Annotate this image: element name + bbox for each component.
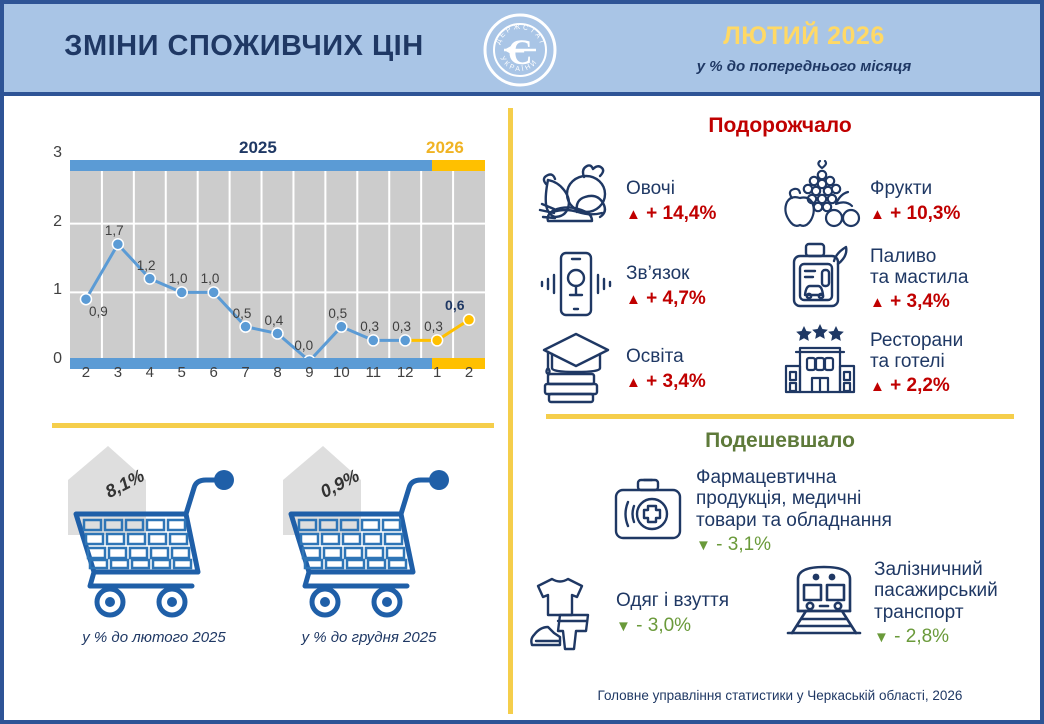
chart-y-tick: 0 — [42, 350, 62, 368]
chart-point-label: 0,0 — [294, 338, 313, 353]
increase-item-education: Освіта ▲ + 3,4% — [534, 328, 706, 411]
item-percent: + 3,4% — [646, 371, 706, 392]
chart-y-tick: 3 — [42, 144, 62, 162]
item-value: ▲ + 14,4% — [626, 203, 716, 225]
triangle-up-icon: ▲ — [626, 374, 641, 391]
cpi-line-chart: 2025 2026 0123 2345678910111212 0,91,71,… — [24, 108, 504, 408]
fuel-canister-icon — [778, 238, 862, 321]
increase-heading: Подорожчало — [520, 114, 1040, 138]
item-value: ▼ - 3,1% — [696, 534, 892, 556]
page-header: ЗМІНИ СПОЖИВЧИХ ЦІН ДЕРЖСТАТ УКРАЇНИ Є Л… — [4, 4, 1040, 96]
item-value: ▲ + 3,4% — [626, 371, 706, 393]
chart-x-tick: 1 — [424, 364, 450, 381]
chart-x-tick: 7 — [233, 364, 259, 381]
fruits-icon — [778, 160, 862, 243]
chart-point-label: 0,5 — [233, 306, 252, 321]
chart-x-tick: 2 — [73, 364, 99, 381]
chart-year-label-2026: 2026 — [426, 138, 464, 158]
chart-year-label-2025: 2025 — [239, 138, 277, 158]
chart-point-label: 1,2 — [137, 258, 156, 273]
header-month: ЛЮТИЙ 2026 — [594, 22, 1014, 51]
chart-x-tick: 11 — [360, 364, 386, 381]
decrease-heading: Подешевшало — [520, 429, 1040, 453]
chart-point-label: 0,6 — [445, 297, 464, 313]
decrease-item-pharma: Фармацевтична продукція, медичні товари … — [608, 467, 892, 556]
increase-items-grid: Овочі ▲ + 14,4% — [520, 150, 1040, 400]
infographic-page: ЗМІНИ СПОЖИВЧИХ ЦІН ДЕРЖСТАТ УКРАЇНИ Є Л… — [0, 0, 1044, 724]
triangle-down-icon: ▼ — [874, 629, 889, 646]
chart-x-tick: 3 — [105, 364, 131, 381]
increase-item-communication: Зв’язок ▲ + 4,7% — [534, 245, 706, 328]
chart-point-label: 0,3 — [424, 319, 443, 334]
shopping-cart-icon — [44, 444, 264, 624]
item-percent: + 2,2% — [890, 375, 950, 396]
shopping-cart-icon — [259, 444, 479, 624]
first-aid-kit-icon — [608, 470, 688, 553]
clothing-shoes-icon — [526, 571, 608, 656]
cart-caption: у % до лютого 2025 — [44, 629, 264, 646]
item-label: Паливо та мастила — [870, 246, 968, 289]
item-percent: + 14,4% — [646, 203, 716, 224]
item-value: ▲ + 4,7% — [626, 288, 706, 310]
item-percent: + 3,4% — [890, 291, 950, 312]
cart-block-yoy: 8,1% у % до лютого 2025 — [44, 444, 264, 629]
left-panel-divider — [52, 423, 494, 428]
chart-y-tick: 2 — [42, 213, 62, 231]
item-label: Овочі — [626, 178, 716, 199]
increase-item-fuel: Паливо та мастила ▲ + 3,4% — [778, 238, 968, 321]
chart-x-tick: 12 — [392, 364, 418, 381]
train-icon — [782, 559, 866, 648]
triangle-down-icon: ▼ — [696, 537, 711, 554]
item-label: Зв’язок — [626, 263, 706, 284]
footer-note: Головне управління статистики у Черкаськ… — [520, 688, 1040, 703]
chart-x-tick: 8 — [265, 364, 291, 381]
chart-point-label: 0,3 — [392, 319, 411, 334]
vertical-divider — [508, 108, 513, 714]
triangle-down-icon: ▼ — [616, 618, 631, 635]
triangle-up-icon: ▲ — [870, 378, 885, 395]
chart-x-tick: 2 — [456, 364, 482, 381]
chart-point-label: 0,5 — [328, 306, 347, 321]
cart-caption: у % до грудня 2025 — [259, 629, 479, 646]
seal-icon: ДЕРЖСТАТ УКРАЇНИ Є — [474, 10, 566, 90]
item-label: Одяг і взуття — [616, 590, 729, 611]
decrease-item-rail: Залізничний пасажирський транспорт ▼ - 2… — [782, 559, 998, 648]
chart-point-label: 0,4 — [265, 313, 284, 328]
triangle-up-icon: ▲ — [626, 291, 641, 308]
derzhstat-logo: ДЕРЖСТАТ УКРАЇНИ Є — [474, 10, 566, 90]
item-label: Освіта — [626, 346, 706, 367]
chart-y-tick: 1 — [42, 281, 62, 299]
item-value: ▲ + 2,2% — [870, 375, 963, 397]
triangle-up-icon: ▲ — [626, 206, 641, 223]
item-value: ▲ + 3,4% — [870, 291, 968, 313]
chart-svg — [70, 171, 485, 358]
chart-point-label: 1,0 — [169, 271, 188, 286]
triangle-up-icon: ▲ — [870, 294, 885, 311]
logo-mark: Є — [508, 32, 532, 72]
chart-x-tick: 4 — [137, 364, 163, 381]
vegetables-icon — [534, 160, 618, 243]
chart-point-label: 0,9 — [89, 304, 108, 319]
graduation-books-icon — [534, 328, 618, 411]
chart-x-tick: 6 — [201, 364, 227, 381]
increase-item-vegetables: Овочі ▲ + 14,4% — [534, 160, 716, 243]
right-panel-divider — [546, 414, 1014, 419]
chart-x-tick: 5 — [169, 364, 195, 381]
hotel-stars-icon — [778, 322, 862, 405]
triangle-up-icon: ▲ — [870, 206, 885, 223]
chart-x-tick: 9 — [296, 364, 322, 381]
price-changes-panel: Подорожчало — [520, 108, 1040, 720]
cart-block-mom: 0,9% у % до грудня 2025 — [259, 444, 479, 629]
chart-top-band-2025 — [70, 160, 432, 171]
item-label: Фармацевтична продукція, медичні товари … — [696, 467, 892, 531]
chart-point-label: 1,7 — [105, 223, 124, 238]
chart-plot-area — [70, 171, 485, 358]
decrease-item-clothing: Одяг і взуття ▼ - 3,0% — [526, 571, 729, 656]
item-label: Фрукти — [870, 178, 960, 199]
increase-item-restaurants: Ресторани та готелі ▲ + 2,2% — [778, 322, 963, 405]
item-percent: + 4,7% — [646, 288, 706, 309]
chart-point-label: 1,0 — [201, 271, 220, 286]
item-percent: - 2,8% — [894, 626, 949, 647]
item-percent: + 10,3% — [890, 203, 960, 224]
item-percent: - 3,0% — [636, 615, 691, 636]
chart-x-tick: 10 — [328, 364, 354, 381]
chart-point-label: 0,3 — [360, 319, 379, 334]
item-percent: - 3,1% — [716, 534, 771, 555]
page-title: ЗМІНИ СПОЖИВЧИХ ЦІН — [44, 30, 444, 63]
header-subtitle: у % до попереднього місяця — [594, 58, 1014, 75]
item-value: ▲ + 10,3% — [870, 203, 960, 225]
item-value: ▼ - 3,0% — [616, 615, 729, 637]
chart-top-band-2026 — [432, 160, 485, 171]
smartphone-voice-icon — [534, 245, 618, 328]
decrease-items-grid: Фармацевтична продукція, медичні товари … — [520, 459, 1040, 674]
increase-item-fruits: Фрукти ▲ + 10,3% — [778, 160, 960, 243]
item-value: ▼ - 2,8% — [874, 626, 998, 648]
item-label: Ресторани та готелі — [870, 330, 963, 373]
header-right-block: ЛЮТИЙ 2026 у % до попереднього місяця — [594, 22, 1014, 75]
item-label: Залізничний пасажирський транспорт — [874, 559, 998, 623]
